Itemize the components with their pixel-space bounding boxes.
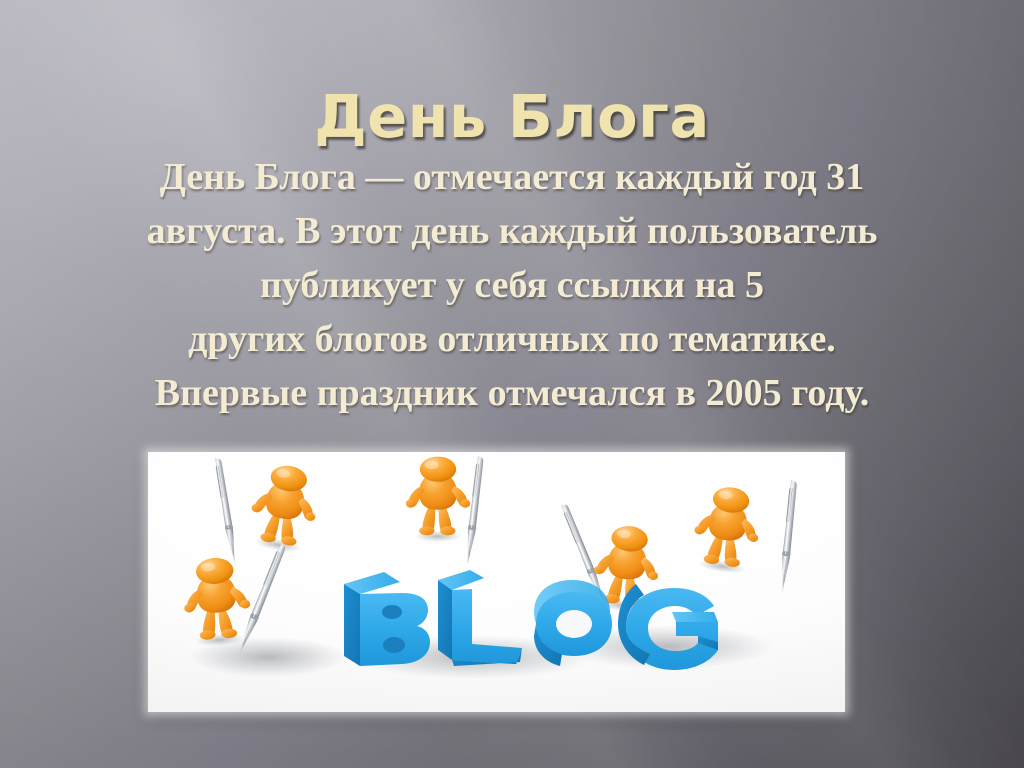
- pen-icon: [464, 456, 485, 566]
- letter-b: [344, 572, 430, 666]
- presentation-slide: День Блога День Блога — отмечается кажды…: [0, 0, 1024, 768]
- body-line: День Блога — отмечается каждый год 31: [42, 150, 982, 204]
- orange-figure-icon: [181, 556, 253, 648]
- body-line: публикует у себя ссылки на 5: [42, 258, 982, 312]
- slide-body-text: День Блога — отмечается каждый год 31 ав…: [42, 150, 982, 420]
- letter-l: [438, 570, 522, 666]
- illustration-panel: [148, 452, 845, 712]
- body-line: Впервые праздник отмечался в 2005 году.: [42, 366, 982, 420]
- pen-icon: [778, 480, 798, 593]
- orange-figure-icon: [406, 457, 470, 542]
- blog-illustration: [148, 452, 845, 712]
- page-title: День Блога: [0, 86, 1024, 148]
- orange-figure-icon: [689, 483, 765, 577]
- orange-figure-icon: [246, 461, 323, 555]
- body-line: других блогов отличных по тематике.: [42, 312, 982, 366]
- body-line: августа. В этот день каждый пользователь: [42, 204, 982, 258]
- pen-icon: [214, 458, 238, 564]
